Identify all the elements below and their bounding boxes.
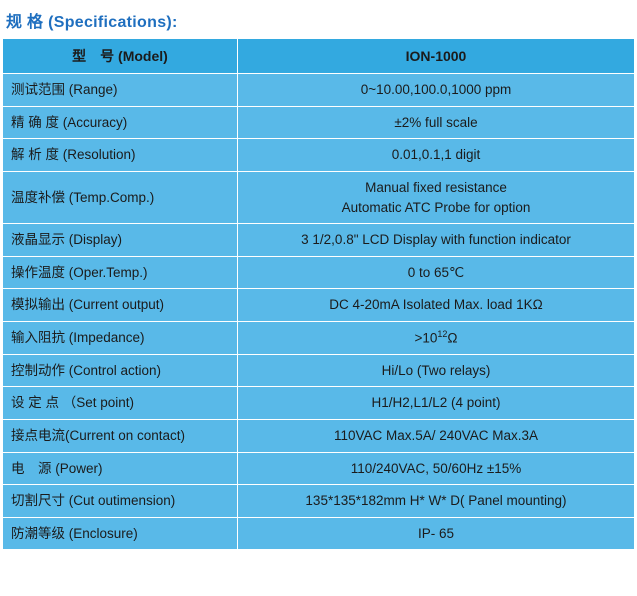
row-label-range: 测试范围 (Range) xyxy=(3,74,238,107)
specifications-table: 型 号 (Model) ION-1000 测试范围 (Range) 0~10.0… xyxy=(2,38,635,550)
header-label-model: 型 号 (Model) xyxy=(3,39,238,74)
row-label-resolution: 解 析 度 (Resolution) xyxy=(3,139,238,172)
impedance-prefix: >10 xyxy=(414,330,437,345)
table-row: 电 源 (Power) 110/240VAC, 50/60Hz ±15% xyxy=(3,452,635,485)
table-row: 接点电流(Current on contact) 110VAC Max.5A/ … xyxy=(3,419,635,452)
row-label-temp-comp: 温度补偿 (Temp.Comp.) xyxy=(3,171,238,223)
row-value-current-output: DC 4-20mA Isolated Max. load 1KΩ xyxy=(238,289,635,322)
row-value-cut-out-dimension: 135*135*182mm H* W* D( Panel mounting) xyxy=(238,485,635,518)
row-value-resolution: 0.01,0.1,1 digit xyxy=(238,139,635,172)
row-value-impedance: >1012Ω xyxy=(238,321,635,354)
row-value-control-action: Hi/Lo (Two relays) xyxy=(238,354,635,387)
row-value-temp-comp: Manual fixed resistance Automatic ATC Pr… xyxy=(238,171,635,223)
row-value-enclosure: IP- 65 xyxy=(238,517,635,550)
table-row: 液晶显示 (Display) 3 1/2,0.8" LCD Display wi… xyxy=(3,224,635,257)
row-value-set-point: H1/H2,L1/L2 (4 point) xyxy=(238,387,635,420)
table-row: 温度补偿 (Temp.Comp.) Manual fixed resistanc… xyxy=(3,171,635,223)
row-label-impedance: 输入阻抗 (Impedance) xyxy=(3,321,238,354)
row-label-current-on-contact: 接点电流(Current on contact) xyxy=(3,419,238,452)
row-value-accuracy: ±2% full scale xyxy=(238,106,635,139)
table-row: 模拟输出 (Current output) DC 4-20mA Isolated… xyxy=(3,289,635,322)
row-label-power: 电 源 (Power) xyxy=(3,452,238,485)
table-row: 测试范围 (Range) 0~10.00,100.0,1000 ppm xyxy=(3,74,635,107)
table-header-row: 型 号 (Model) ION-1000 xyxy=(3,39,635,74)
table-row: 控制动作 (Control action) Hi/Lo (Two relays) xyxy=(3,354,635,387)
header-value-model: ION-1000 xyxy=(238,39,635,74)
table-row: 切割尺寸 (Cut outimension) 135*135*182mm H* … xyxy=(3,485,635,518)
row-value-power: 110/240VAC, 50/60Hz ±15% xyxy=(238,452,635,485)
row-label-current-output: 模拟输出 (Current output) xyxy=(3,289,238,322)
row-label-control-action: 控制动作 (Control action) xyxy=(3,354,238,387)
impedance-exponent: 12 xyxy=(437,329,447,339)
table-row: 设 定 点 （Set point) H1/H2,L1/L2 (4 point) xyxy=(3,387,635,420)
row-value-range: 0~10.00,100.0,1000 ppm xyxy=(238,74,635,107)
row-value-current-on-contact: 110VAC Max.5A/ 240VAC Max.3A xyxy=(238,419,635,452)
table-row: 防潮等级 (Enclosure) IP- 65 xyxy=(3,517,635,550)
table-row: 解 析 度 (Resolution) 0.01,0.1,1 digit xyxy=(3,139,635,172)
spec-page: 规 格 (Specifications): 型 号 (Model) ION-10… xyxy=(0,0,637,596)
row-value-display: 3 1/2,0.8" LCD Display with function ind… xyxy=(238,224,635,257)
row-value-temp-comp-line1: Manual fixed resistance xyxy=(246,178,626,198)
row-label-enclosure: 防潮等级 (Enclosure) xyxy=(3,517,238,550)
row-label-display: 液晶显示 (Display) xyxy=(3,224,238,257)
table-row: 输入阻抗 (Impedance) >1012Ω xyxy=(3,321,635,354)
table-row: 精 确 度 (Accuracy) ±2% full scale xyxy=(3,106,635,139)
row-label-cut-out-dimension: 切割尺寸 (Cut outimension) xyxy=(3,485,238,518)
table-row: 操作温度 (Oper.Temp.) 0 to 65℃ xyxy=(3,256,635,289)
row-label-accuracy: 精 确 度 (Accuracy) xyxy=(3,106,238,139)
row-value-oper-temp: 0 to 65℃ xyxy=(238,256,635,289)
row-value-temp-comp-line2: Automatic ATC Probe for option xyxy=(246,198,626,218)
row-label-oper-temp: 操作温度 (Oper.Temp.) xyxy=(3,256,238,289)
row-label-set-point: 设 定 点 （Set point) xyxy=(3,387,238,420)
impedance-suffix: Ω xyxy=(447,330,457,345)
page-title: 规 格 (Specifications): xyxy=(0,0,637,38)
